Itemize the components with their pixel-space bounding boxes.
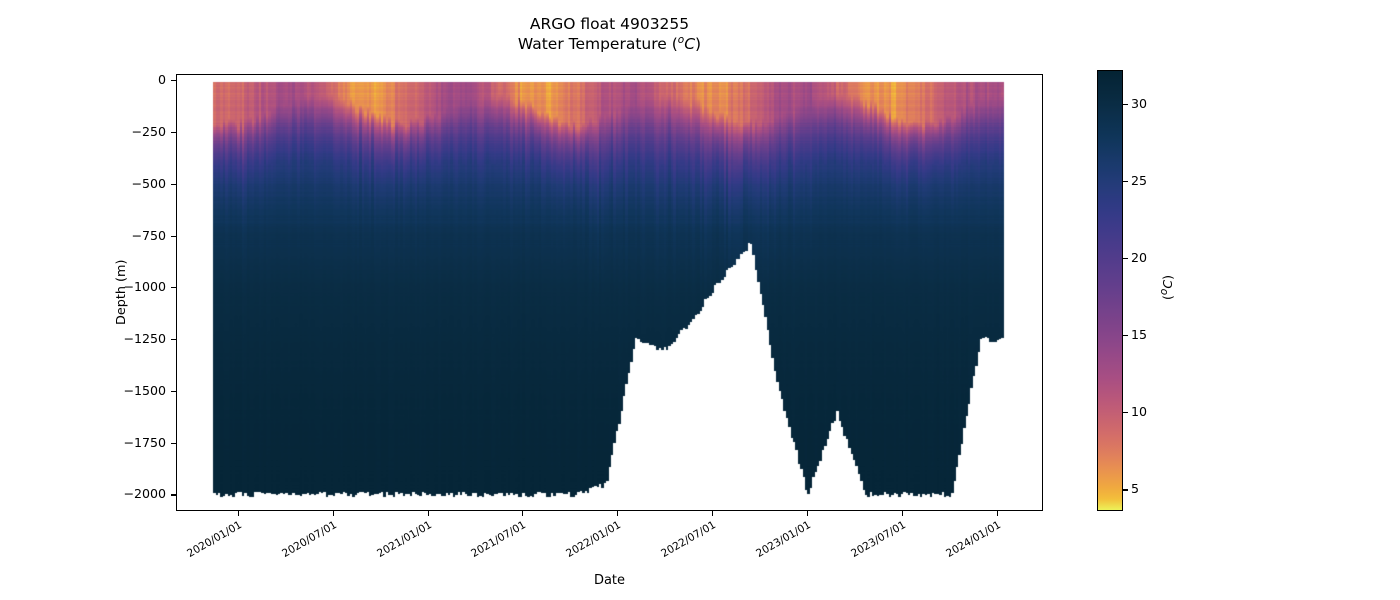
colorbar-label: (oC): [1158, 275, 1175, 300]
colorbar-degree-superscript: o: [1158, 289, 1170, 295]
colorbar-tick-label: 20: [1131, 250, 1147, 265]
colorbar-tick-label: 10: [1131, 404, 1147, 419]
colorbar-gradient: [1098, 71, 1122, 510]
y-tick-mark: [171, 80, 176, 81]
y-tick-mark: [171, 391, 176, 392]
figure-title: ARGO float 4903255 Water Temperature (oC…: [176, 14, 1043, 55]
y-tick-label: −500: [96, 176, 166, 191]
x-tick-mark: [807, 511, 808, 516]
x-tick-mark: [617, 511, 618, 516]
x-tick-label: 2023/07/01: [818, 519, 907, 577]
colorbar-tick-mark: [1123, 258, 1128, 259]
colorbar-tick-mark: [1123, 181, 1128, 182]
temperature-depth-heatmap: [177, 75, 1042, 510]
y-tick-mark: [171, 443, 176, 444]
colorbar-tick-mark: [1123, 335, 1128, 336]
colorbar-unit-letter: C: [1160, 280, 1175, 289]
y-tick-label: −1000: [96, 279, 166, 294]
x-tick-mark: [333, 511, 334, 516]
y-tick-label: −1250: [96, 331, 166, 346]
y-tick-label: −750: [96, 228, 166, 243]
x-tick-label: 2024/01/01: [913, 519, 1002, 577]
title-line-float-id: ARGO float 4903255: [176, 14, 1043, 34]
x-tick-mark: [522, 511, 523, 516]
x-tick-label: 2021/01/01: [345, 519, 434, 577]
figure-canvas: ARGO float 4903255 Water Temperature (oC…: [0, 0, 1400, 600]
y-tick-mark: [171, 287, 176, 288]
y-tick-mark: [171, 494, 176, 495]
title-variable-suffix: ): [695, 36, 701, 54]
colorbar-tick-label: 30: [1131, 96, 1147, 111]
colorbar-tick-mark: [1123, 412, 1128, 413]
x-tick-label: 2023/01/01: [724, 519, 813, 577]
y-tick-mark: [171, 236, 176, 237]
y-tick-label: 0: [96, 72, 166, 87]
x-tick-label: 2020/01/01: [155, 519, 244, 577]
title-unit-letter: C: [684, 36, 695, 54]
colorbar-tick-label: 15: [1131, 327, 1147, 342]
title-line-variable: Water Temperature (oC): [176, 34, 1043, 55]
x-tick-mark: [902, 511, 903, 516]
y-tick-mark: [171, 184, 176, 185]
y-tick-label: −2000: [96, 486, 166, 501]
x-tick-label: 2022/07/01: [629, 519, 718, 577]
colorbar-unit-prefix: (: [1160, 295, 1175, 300]
y-tick-mark: [171, 132, 176, 133]
colorbar-tick-label: 25: [1131, 173, 1147, 188]
x-tick-label: 2020/07/01: [250, 519, 339, 577]
x-axis-label: Date: [176, 573, 1043, 588]
x-tick-mark: [238, 511, 239, 516]
colorbar-tick-label: 5: [1131, 481, 1139, 496]
x-tick-mark: [428, 511, 429, 516]
y-tick-label: −1500: [96, 383, 166, 398]
colorbar-tick-mark: [1123, 104, 1128, 105]
colorbar-tick-mark: [1123, 489, 1128, 490]
colorbar-unit-suffix: ): [1160, 275, 1175, 280]
plot-axes[interactable]: [176, 74, 1043, 511]
y-tick-label: −250: [96, 124, 166, 139]
y-tick-mark: [171, 339, 176, 340]
title-variable-prefix: Water Temperature (: [518, 36, 678, 54]
x-tick-mark: [997, 511, 998, 516]
colorbar[interactable]: [1097, 70, 1123, 511]
y-axis-label: Depth (m): [114, 259, 129, 325]
x-tick-label: 2022/01/01: [534, 519, 623, 577]
y-tick-label: −1750: [96, 435, 166, 450]
x-tick-mark: [712, 511, 713, 516]
x-tick-label: 2021/07/01: [439, 519, 528, 577]
